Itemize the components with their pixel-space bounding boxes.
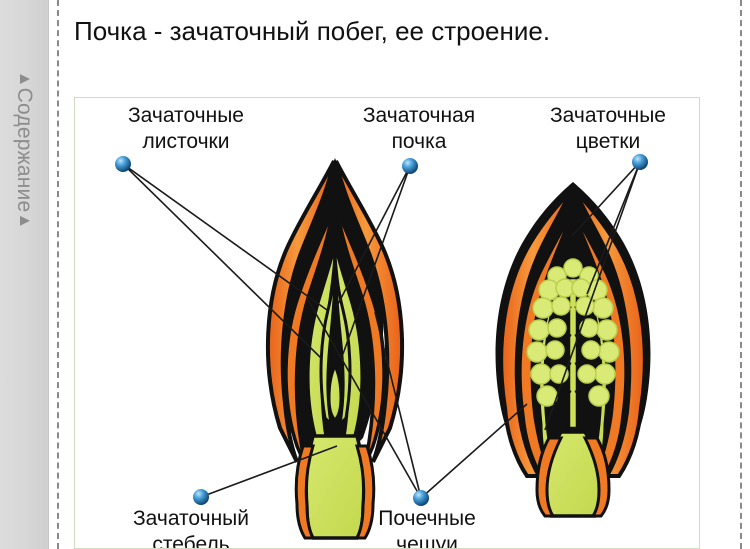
callout-leaflets-line1: Зачаточные	[81, 103, 291, 129]
callout-label-stem: Зачаточный стебель	[81, 506, 301, 549]
dashed-guide-right	[740, 0, 742, 549]
callout-scales-line1: Почечные	[327, 506, 527, 532]
marker-dot-stem[interactable]	[193, 489, 209, 505]
marker-dot-bud[interactable]	[402, 158, 418, 174]
dashed-guide-left	[57, 0, 59, 549]
callout-leaflets-line2: листочки	[81, 129, 291, 155]
callout-flowers-line1: Зачаточные	[515, 103, 700, 129]
callout-bud-line2: почка	[319, 129, 519, 155]
slide-canvas: ▲Содержание▲ Почка - зачаточный побег, е…	[0, 0, 750, 549]
contents-sidebar-label[interactable]: ▲Содержание▲	[12, 71, 36, 230]
marker-dot-leaflets[interactable]	[115, 156, 131, 172]
contents-sidebar-text: Содержание	[13, 88, 36, 213]
callout-label-scales: Почечные чешуи	[327, 506, 527, 549]
callout-label-bud: Зачаточная почка	[319, 103, 519, 155]
callout-label-flowers: Зачаточные цветки	[515, 103, 700, 155]
triangle-up-icon-left: ▲	[15, 71, 35, 88]
bud-anatomy-diagram	[75, 98, 700, 549]
callout-flowers-line2: цветки	[515, 129, 700, 155]
contents-sidebar[interactable]: ▲Содержание▲	[0, 0, 49, 549]
callout-scales-line2: чешуи	[327, 532, 527, 549]
marker-dot-scales[interactable]	[413, 490, 429, 506]
slide-title: Почка - зачаточный побег, ее строение.	[74, 14, 714, 48]
triangle-up-icon-right: ▲	[15, 212, 35, 229]
figure-frame: Зачаточные листочки Зачаточная почка Зач…	[74, 97, 700, 549]
callout-stem-line2: стебель	[81, 532, 301, 549]
bud-apical-cone	[329, 366, 341, 420]
callout-label-leaflets: Зачаточные листочки	[81, 103, 291, 155]
callout-bud-line1: Зачаточная	[319, 103, 519, 129]
callout-stem-line1: Зачаточный	[81, 506, 301, 532]
marker-dot-flowers[interactable]	[632, 154, 648, 170]
